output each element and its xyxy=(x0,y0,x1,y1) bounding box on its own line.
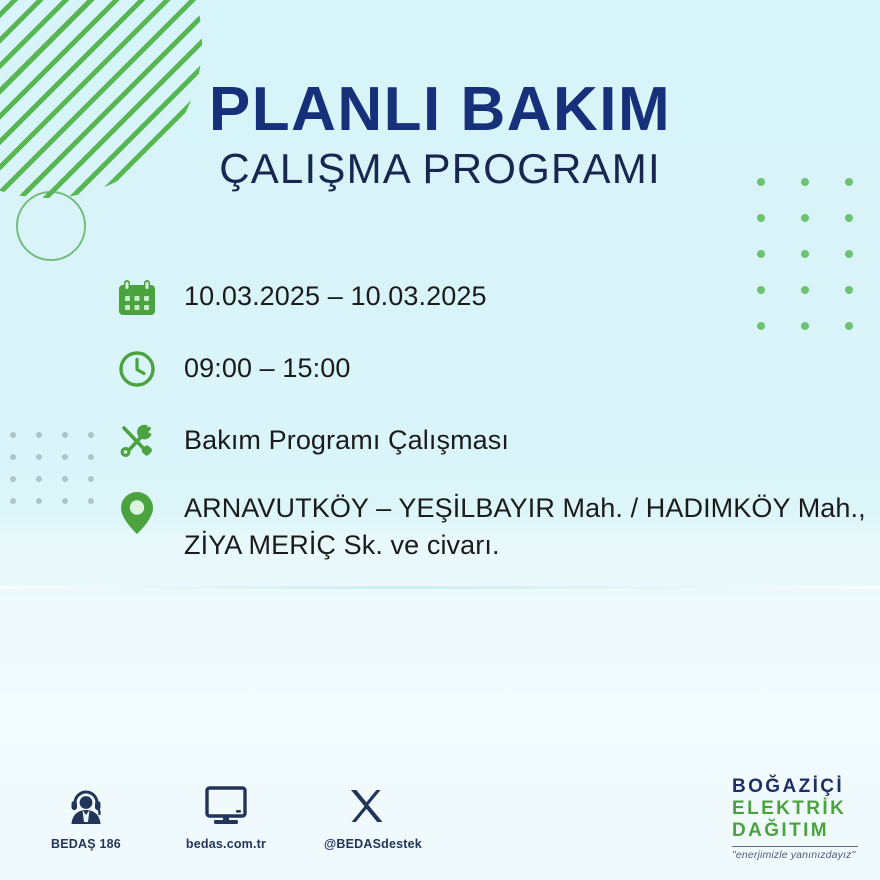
location-pin-icon xyxy=(112,488,184,538)
detail-row-work-type: Bakım Programı Çalışması xyxy=(112,416,872,466)
detail-text-location: ARNAVUTKÖY – YEŞİLBAYIR Mah. / HADIMKÖY … xyxy=(184,488,872,563)
footer-item-call-center[interactable]: BEDAŞ 186 xyxy=(44,782,128,851)
call-center-agent-icon xyxy=(44,782,128,830)
detail-text-date: 10.03.2025 – 10.03.2025 xyxy=(184,272,487,315)
brand-logo: BOĞAZİÇİ ELEKTRİK DAĞITIM "enerjimizle y… xyxy=(732,776,858,861)
circle-outline-decoration xyxy=(16,191,86,261)
monitor-icon xyxy=(184,782,268,830)
planned-maintenance-poster: PLANLI BAKIM ÇALIŞMA PROGRAMI xyxy=(0,0,880,880)
brand-tagline: "enerjimizle yanınızdayız" xyxy=(732,849,858,861)
maintenance-details: 10.03.2025 – 10.03.2025 09:00 – 15:00 xyxy=(112,272,872,563)
poster-heading: PLANLI BAKIM ÇALIŞMA PROGRAMI xyxy=(0,78,880,191)
dot-grid-left-decoration xyxy=(10,432,114,520)
footer-item-website[interactable]: bedas.com.tr xyxy=(184,782,268,851)
x-social-icon xyxy=(324,782,408,830)
detail-row-date: 10.03.2025 – 10.03.2025 xyxy=(112,272,872,322)
tools-icon xyxy=(112,416,184,466)
detail-text-time: 09:00 – 15:00 xyxy=(184,344,350,387)
footer-label-call-center: BEDAŞ 186 xyxy=(44,837,128,851)
brand-divider xyxy=(732,846,858,848)
page-title: PLANLI BAKIM xyxy=(0,78,880,141)
footer-contacts: BEDAŞ 186 bedas.com.tr @BEDASdestek xyxy=(44,782,408,851)
horizontal-divider-decoration xyxy=(0,586,880,589)
calendar-icon xyxy=(112,272,184,322)
clock-icon xyxy=(112,344,184,394)
footer-item-x-social[interactable]: @BEDASdestek xyxy=(324,782,408,851)
brand-line-elektrik: ELEKTRİK xyxy=(732,798,858,820)
brand-line-dagitim: DAĞITIM xyxy=(732,820,858,842)
detail-row-location: ARNAVUTKÖY – YEŞİLBAYIR Mah. / HADIMKÖY … xyxy=(112,488,872,563)
detail-text-work-type: Bakım Programı Çalışması xyxy=(184,416,509,459)
brand-line-bogazici: BOĞAZİÇİ xyxy=(732,776,858,798)
footer-label-x-social: @BEDASdestek xyxy=(324,837,408,851)
page-subtitle: ÇALIŞMA PROGRAMI xyxy=(0,147,880,191)
footer-label-website: bedas.com.tr xyxy=(184,837,268,851)
detail-row-time: 09:00 – 15:00 xyxy=(112,344,872,394)
